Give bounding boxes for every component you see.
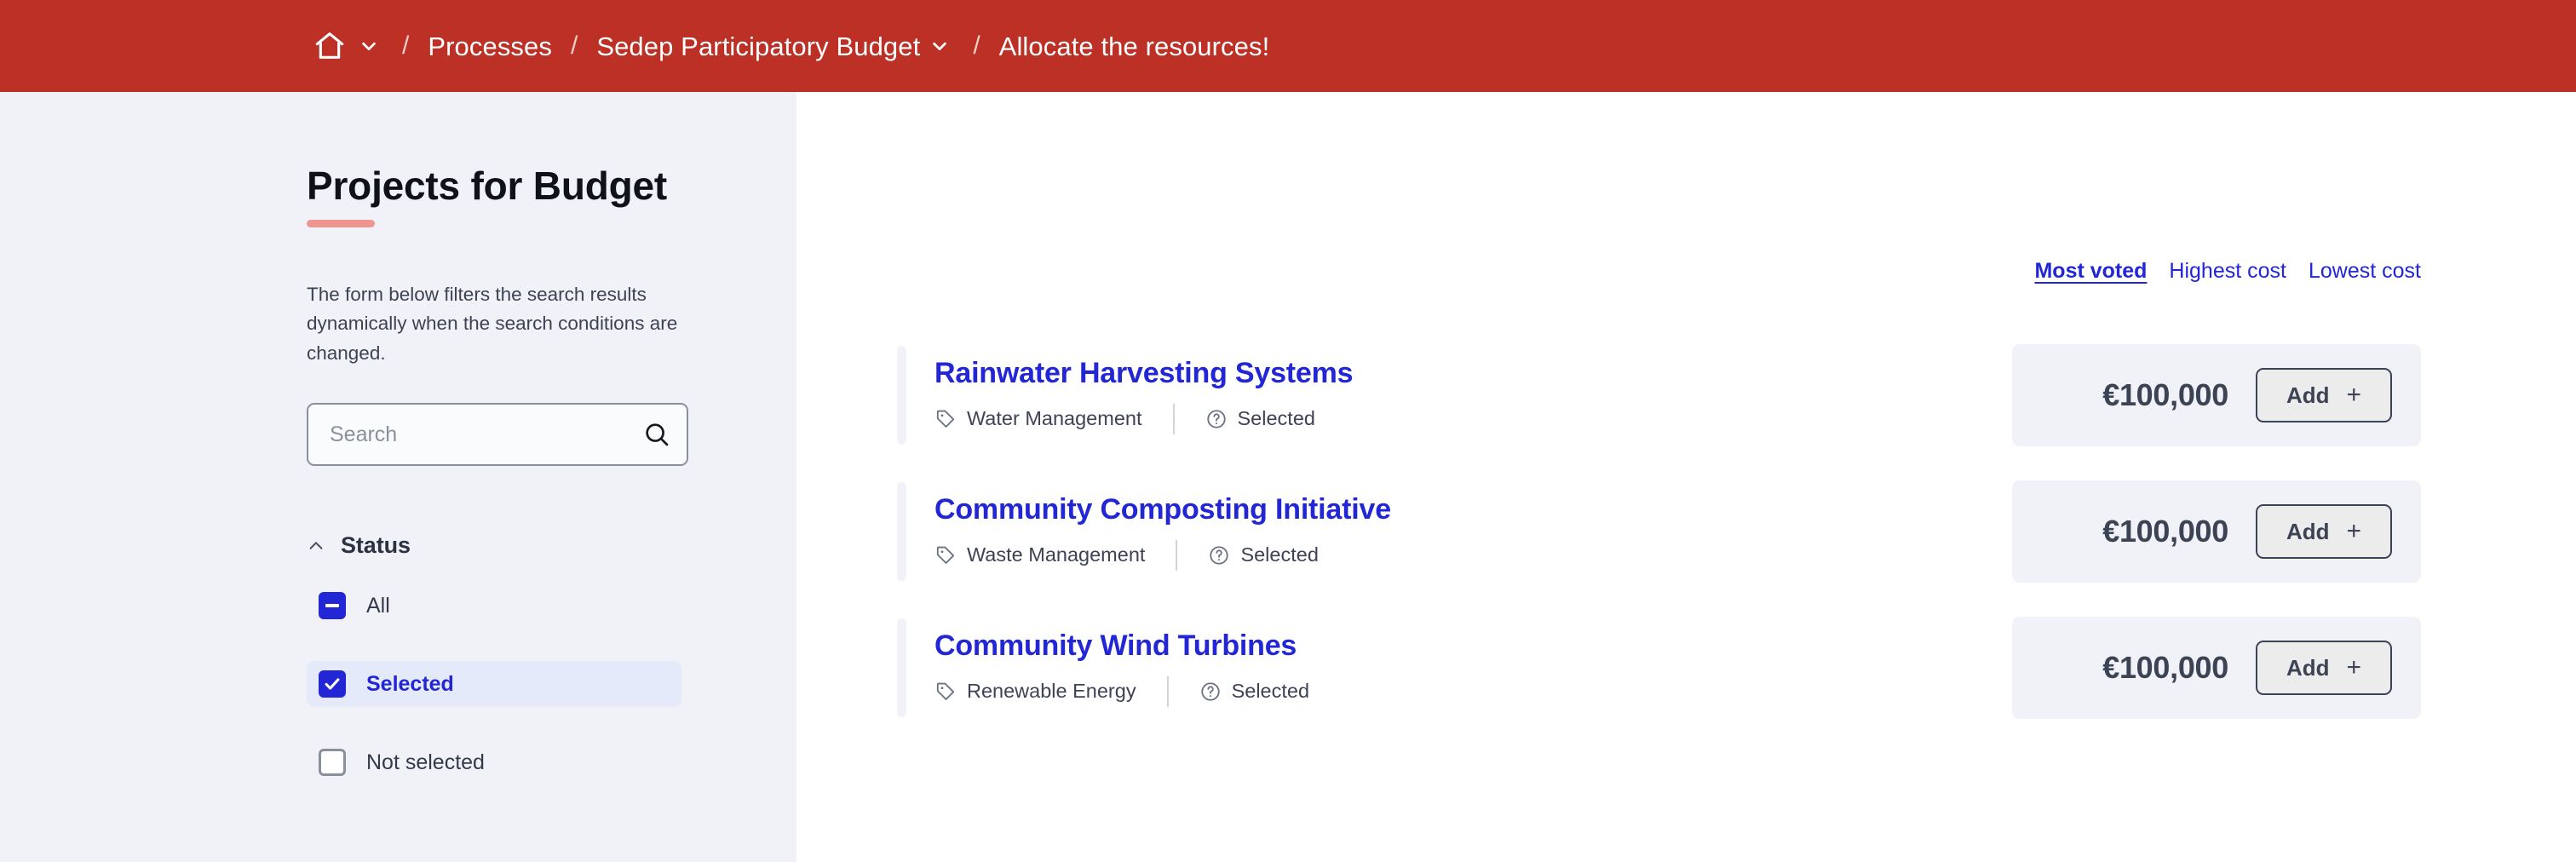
chevron-up-icon	[307, 537, 325, 555]
plus-icon: +	[2347, 655, 2362, 681]
project-card: Community Composting Initiative Waste Ma…	[897, 480, 1961, 583]
breadcrumb-separator: /	[954, 33, 998, 59]
sort-option-lowest-cost[interactable]: Lowest cost	[2309, 259, 2421, 284]
project-status-label: Selected	[1238, 409, 1315, 429]
question-circle-icon	[1199, 681, 1222, 703]
filter-group-label: Status	[341, 532, 411, 559]
breadcrumb-item-current: Allocate the resources!	[999, 33, 1270, 60]
breadcrumb-separator: /	[552, 33, 596, 59]
project-status: Selected	[1205, 408, 1315, 430]
plus-icon: +	[2347, 382, 2362, 408]
tag-icon	[934, 408, 957, 430]
project-price-box: €100,000 Add +	[2012, 617, 2421, 719]
project-category-label: Renewable Energy	[967, 681, 1136, 702]
projects-main-panel: Most voted Highest cost Lowest cost Rain…	[796, 92, 2576, 862]
checkbox-unchecked-icon[interactable]	[319, 749, 346, 776]
add-button-label: Add	[2286, 519, 2330, 545]
project-price-box: €100,000 Add +	[2012, 480, 2421, 583]
filter-option-selected[interactable]: Selected	[307, 661, 681, 707]
project-category: Waste Management	[934, 544, 1145, 566]
breadcrumb: / Processes / Sedep Participatory Budget…	[310, 0, 1269, 92]
breadcrumb-separator: /	[383, 33, 428, 59]
project-status-label: Selected	[1232, 681, 1309, 702]
project-card: Community Wind Turbines Renewable Energy	[897, 617, 1961, 719]
project-category-label: Waste Management	[967, 545, 1145, 566]
search-input[interactable]	[307, 403, 688, 466]
plus-icon: +	[2347, 519, 2362, 544]
status-filter-list: All Selected Not selected	[307, 583, 681, 785]
search-box	[307, 403, 688, 466]
filter-help-text: The form below filters the search result…	[307, 280, 688, 370]
filter-option-not-selected[interactable]: Not selected	[307, 739, 681, 785]
card-accent-bar	[897, 346, 906, 445]
add-button-label: Add	[2286, 655, 2330, 681]
filter-group-status-header[interactable]: Status	[307, 532, 562, 559]
project-status: Selected	[1199, 681, 1309, 703]
filter-option-label: All	[366, 595, 390, 617]
filter-option-all[interactable]: All	[307, 583, 681, 629]
tag-icon	[934, 544, 957, 566]
project-row: Community Composting Initiative Waste Ma…	[897, 480, 2421, 583]
project-category: Renewable Energy	[934, 681, 1136, 703]
project-title-link[interactable]: Community Wind Turbines	[934, 630, 1297, 662]
project-meta: Renewable Energy Selected	[934, 678, 1961, 705]
title-accent-rule	[307, 220, 375, 227]
sort-option-highest-cost[interactable]: Highest cost	[2169, 259, 2286, 284]
project-title-link[interactable]: Community Composting Initiative	[934, 494, 1391, 526]
project-title-link[interactable]: Rainwater Harvesting Systems	[934, 358, 1353, 389]
breadcrumb-item-process[interactable]: Sedep Participatory Budget	[596, 33, 920, 60]
project-card: Rainwater Harvesting Systems Water Manag…	[897, 344, 1961, 446]
checkbox-checked-icon[interactable]	[319, 670, 346, 698]
project-price: €100,000	[2102, 377, 2228, 413]
meta-divider	[1167, 676, 1169, 707]
project-price: €100,000	[2102, 514, 2228, 549]
question-circle-icon	[1208, 544, 1230, 566]
add-project-button[interactable]: Add +	[2256, 504, 2392, 559]
filters-sidebar: Projects for Budget The form below filte…	[0, 92, 796, 862]
sort-option-most-voted[interactable]: Most voted	[2034, 259, 2147, 284]
project-category: Water Management	[934, 408, 1142, 430]
project-price: €100,000	[2102, 650, 2228, 686]
project-meta: Waste Management Selected	[934, 542, 1961, 569]
filter-option-label: Not selected	[366, 752, 485, 773]
home-icon[interactable]	[310, 26, 349, 66]
project-meta: Water Management Selected	[934, 405, 1961, 433]
project-status: Selected	[1208, 544, 1318, 566]
card-accent-bar	[897, 618, 906, 717]
breadcrumb-item-processes[interactable]: Processes	[428, 33, 552, 60]
project-row: Rainwater Harvesting Systems Water Manag…	[897, 344, 2421, 446]
project-status-label: Selected	[1240, 545, 1318, 566]
meta-divider	[1173, 404, 1175, 434]
process-chevron-down-icon[interactable]	[925, 32, 954, 60]
project-category-label: Water Management	[967, 409, 1142, 429]
top-navigation-bar: / Processes / Sedep Participatory Budget…	[0, 0, 2576, 92]
meta-divider	[1176, 540, 1177, 571]
add-project-button[interactable]: Add +	[2256, 368, 2392, 422]
projects-list: Rainwater Harvesting Systems Water Manag…	[897, 344, 2421, 753]
question-circle-icon	[1205, 408, 1228, 430]
project-row: Community Wind Turbines Renewable Energy	[897, 617, 2421, 719]
home-chevron-down-icon[interactable]	[354, 32, 383, 60]
tag-icon	[934, 681, 957, 703]
card-accent-bar	[897, 482, 906, 581]
filter-option-label: Selected	[366, 674, 454, 695]
search-icon[interactable]	[637, 415, 676, 454]
add-button-label: Add	[2286, 382, 2330, 409]
project-price-box: €100,000 Add +	[2012, 344, 2421, 446]
checkbox-indeterminate-icon[interactable]	[319, 592, 346, 619]
add-project-button[interactable]: Add +	[2256, 641, 2392, 695]
sort-options: Most voted Highest cost Lowest cost	[2034, 259, 2421, 284]
page-title: Projects for Budget	[307, 92, 796, 208]
